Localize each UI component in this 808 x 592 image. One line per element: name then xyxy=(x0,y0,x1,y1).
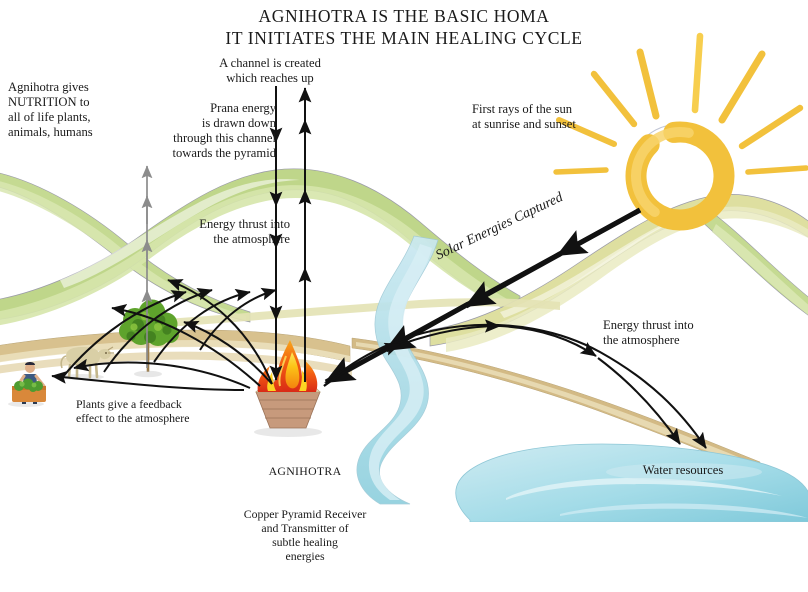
label-agnihotra-caption: AGNIHOTRA Copper Pyramid Receiver and Tr… xyxy=(215,436,395,592)
diagram-canvas: AGNIHOTRA IS THE BASIC HOMA IT INITIATES… xyxy=(0,0,808,522)
page-title-line-1: AGNIHOTRA IS THE BASIC HOMA xyxy=(0,6,808,27)
label-energy-thrust-left: Energy thrust into the atmosphere xyxy=(150,217,290,247)
lake-icon xyxy=(456,444,808,522)
label-plants-feedback: Plants give a feedback effect to the atm… xyxy=(76,398,231,426)
label-channel-created: A channel is created which reaches up xyxy=(190,56,350,86)
label-energy-thrust-right: Energy thrust into the atmosphere xyxy=(603,318,753,348)
label-first-rays: First rays of the sun at sunrise and sun… xyxy=(472,102,642,132)
label-water-resources: Water resources xyxy=(628,463,738,478)
illustration-svg xyxy=(0,0,808,522)
agnihotra-caption-heading: AGNIHOTRA xyxy=(215,464,395,478)
label-nutrition: Agnihotra gives NUTRITION to all of life… xyxy=(8,80,93,139)
label-prana-energy: Prana energy is drawn down through this … xyxy=(148,101,276,160)
agnihotra-caption-body: Copper Pyramid Receiver and Transmitter … xyxy=(215,507,395,564)
page-title-line-2: IT INITIATES THE MAIN HEALING CYCLE xyxy=(0,28,808,49)
